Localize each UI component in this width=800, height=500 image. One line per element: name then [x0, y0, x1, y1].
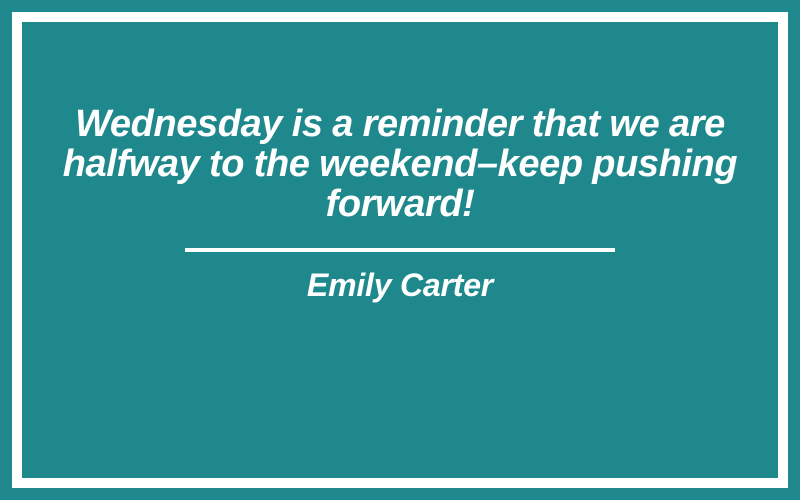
card-content: Wednesday is a reminder that we are half… — [22, 22, 778, 478]
quote-divider — [185, 248, 615, 252]
quote-author-name: Emily Carter — [307, 267, 493, 303]
quote-card: Wednesday is a reminder that we are half… — [0, 0, 800, 500]
quote-text: Wednesday is a reminder that we are half… — [22, 104, 778, 224]
